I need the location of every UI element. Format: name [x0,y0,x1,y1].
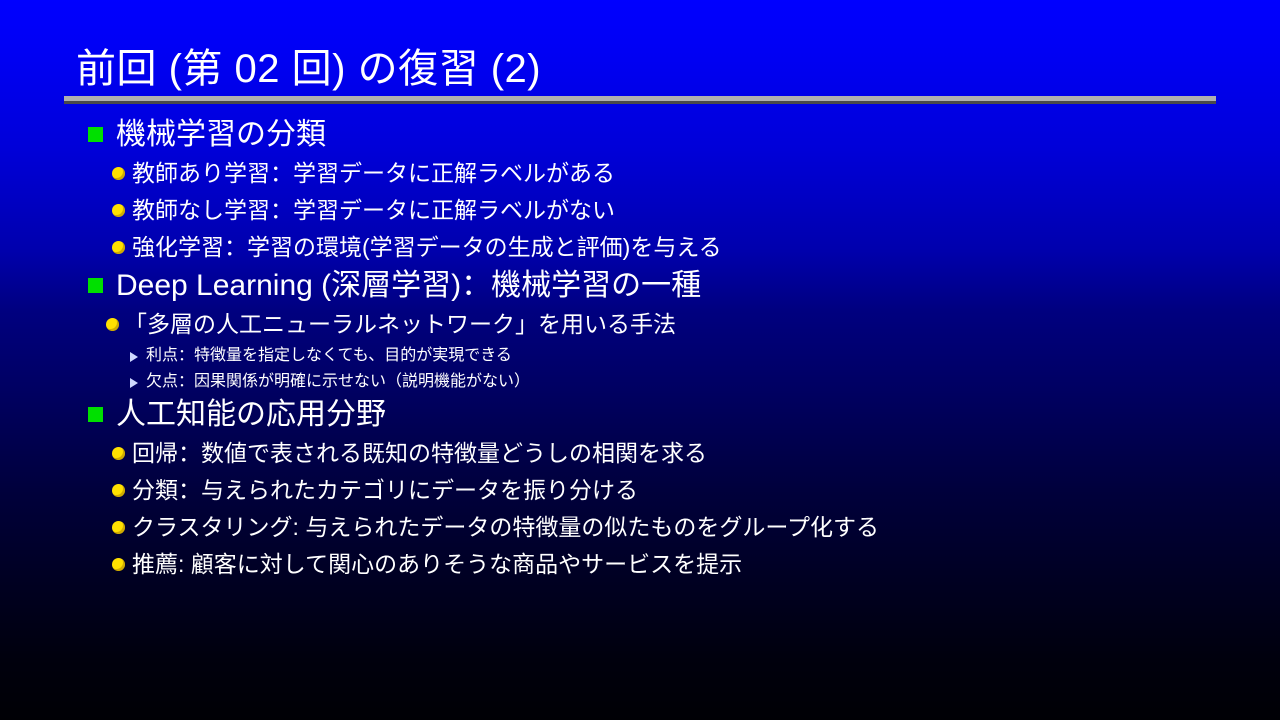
outline-item-label: 機械学習の分類 [116,116,326,154]
outline-item-label: 強化学習：学習の環境(学習データの生成と評価)を与える [132,230,722,264]
outline-item-level2: 推薦: 顧客に対して関心のありそうな商品やサービスを提示 [0,547,1280,584]
title-divider-rule [64,96,1216,104]
outline-item-label: 分類：与えられたカテゴリにデータを振り分ける [132,473,638,507]
triangle-bullet-icon [130,352,138,362]
outline-item-level2: クラスタリング: 与えられたデータの特徴量の似たものをグループ化する [0,510,1280,547]
outline-item-level2: 強化学習：学習の環境(学習データの生成と評価)を与える [0,230,1280,267]
outline-item-level1: 機械学習の分類 [0,116,1280,156]
outline-item-label: 「多層の人工ニューラルネットワーク」を用いる手法 [124,307,676,341]
slide-body-outline: 機械学習の分類 教師あり学習：学習データに正解ラベルがある 教師なし学習：学習デ… [0,116,1280,584]
outline-item-label: 推薦: 顧客に対して関心のありそうな商品やサービスを提示 [132,547,742,581]
green-square-bullet-icon [88,127,103,142]
outline-item-label: 利点：特徴量を指定しなくても、目的が実現できる [146,344,512,368]
yellow-disc-bullet-icon [112,484,125,497]
outline-item-level2: 「多層の人工ニューラルネットワーク」を用いる手法 [0,307,1280,344]
presentation-slide: 前回 (第 02 回) の復習 (2) 機械学習の分類 教師あり学習：学習データ… [0,0,1280,720]
outline-item-label: クラスタリング: 与えられたデータの特徴量の似たものをグループ化する [132,510,879,544]
yellow-disc-bullet-icon [112,204,125,217]
outline-item-level3: 利点：特徴量を指定しなくても、目的が実現できる [0,344,1280,370]
outline-item-level2: 回帰：数値で表される既知の特徴量どうしの相関を求る [0,436,1280,473]
outline-item-level2: 分類：与えられたカテゴリにデータを振り分ける [0,473,1280,510]
outline-item-label: 回帰：数値で表される既知の特徴量どうしの相関を求る [132,436,707,470]
outline-item-level1: 人工知能の応用分野 [0,396,1280,436]
yellow-disc-bullet-icon [112,558,125,571]
outline-item-level2: 教師なし学習：学習データに正解ラベルがない [0,193,1280,230]
yellow-disc-bullet-icon [112,521,125,534]
yellow-disc-bullet-icon [106,318,119,331]
page-title: 前回 (第 02 回) の復習 (2) [76,46,541,92]
yellow-disc-bullet-icon [112,447,125,460]
outline-item-label: 欠点：因果関係が明確に示せない（説明機能がない） [146,370,530,394]
outline-item-label: 人工知能の応用分野 [116,396,386,434]
outline-item-level3: 欠点：因果関係が明確に示せない（説明機能がない） [0,370,1280,396]
yellow-disc-bullet-icon [112,241,125,254]
outline-item-level1: Deep Learning (深層学習)：機械学習の一種 [0,267,1280,307]
outline-item-label: Deep Learning (深層学習)：機械学習の一種 [116,267,701,305]
outline-item-level2: 教師あり学習：学習データに正解ラベルがある [0,156,1280,193]
yellow-disc-bullet-icon [112,167,125,180]
triangle-bullet-icon [130,378,138,388]
outline-item-label: 教師なし学習：学習データに正解ラベルがない [132,193,615,227]
outline-item-label: 教師あり学習：学習データに正解ラベルがある [132,156,615,190]
green-square-bullet-icon [88,407,103,422]
green-square-bullet-icon [88,278,103,293]
